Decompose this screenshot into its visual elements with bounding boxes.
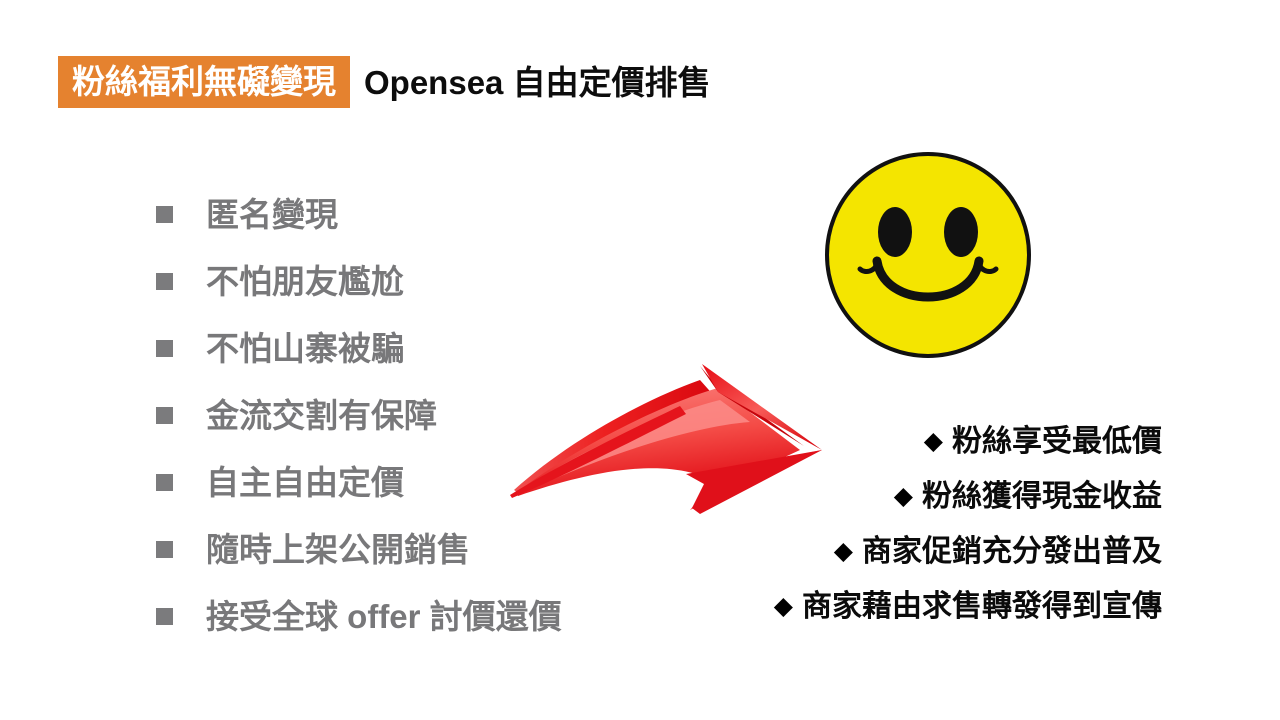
- square-bullet-icon: [156, 541, 173, 558]
- square-bullet-icon: [156, 340, 173, 357]
- list-item: 匿名變現: [156, 181, 676, 248]
- list-item-label: 隨時上架公開銷售: [206, 533, 470, 566]
- list-item-label: 粉絲享受最低價: [952, 427, 1162, 457]
- list-item-label: 不怕朋友尷尬: [206, 265, 404, 298]
- list-item: ◆ 商家促銷充分發出普及: [774, 524, 1162, 579]
- list-item-label: 接受全球 offer 討價還價: [206, 600, 562, 633]
- title-badge: 粉絲福利無礙變現: [58, 56, 350, 108]
- square-bullet-icon: [156, 474, 173, 491]
- list-item-label: 匿名變現: [206, 198, 338, 231]
- slide-canvas: 粉絲福利無礙變現 Opensea 自由定價排售 匿名變現 不怕朋友尷尬 不怕山寨…: [0, 0, 1280, 720]
- curved-right-arrow-icon: [504, 358, 834, 518]
- square-bullet-icon: [156, 206, 173, 223]
- square-bullet-icon: [156, 407, 173, 424]
- list-item-label: 自主自由定價: [206, 466, 404, 499]
- list-item: 不怕朋友尷尬: [156, 248, 676, 315]
- smiley-face-icon: [822, 149, 1034, 361]
- list-item-label: 商家促銷充分發出普及: [862, 537, 1162, 567]
- square-bullet-icon: [156, 608, 173, 625]
- list-item-label: 不怕山寨被騙: [206, 332, 404, 365]
- list-item-label: 商家藉由求售轉發得到宣傳: [802, 592, 1162, 622]
- list-item-label: 粉絲獲得現金收益: [922, 482, 1162, 512]
- diamond-bullet-icon: ◆: [834, 539, 853, 564]
- square-bullet-icon: [156, 273, 173, 290]
- list-item: ◆ 商家藉由求售轉發得到宣傳: [774, 579, 1162, 634]
- page-title: Opensea 自由定價排售: [364, 66, 711, 99]
- diamond-bullet-icon: ◆: [924, 429, 943, 454]
- list-item: 接受全球 offer 討價還價: [156, 583, 676, 650]
- diamond-bullet-icon: ◆: [774, 594, 793, 619]
- list-item-label: 金流交割有保障: [206, 399, 437, 432]
- slide-title: 粉絲福利無礙變現 Opensea 自由定價排售: [58, 56, 711, 108]
- diamond-bullet-icon: ◆: [894, 484, 913, 509]
- list-item: 隨時上架公開銷售: [156, 516, 676, 583]
